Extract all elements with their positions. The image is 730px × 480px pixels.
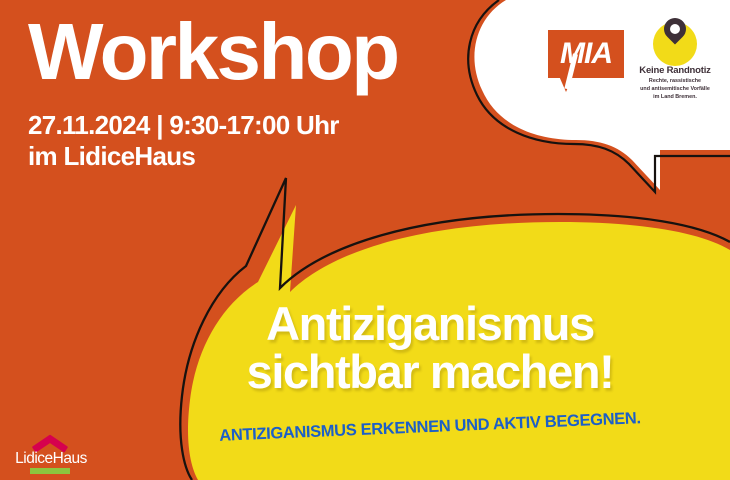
keine-randnotiz-subtitle: Rechte, rassistische und antisemitische … bbox=[630, 77, 720, 101]
map-pin-hole-icon bbox=[670, 24, 680, 34]
workshop-poster: Workshop 27.11.2024 | 9:30-17:00 Uhr im … bbox=[0, 0, 730, 480]
main-message-line-2: sichtbar machen! bbox=[150, 348, 710, 396]
page-title: Workshop bbox=[28, 14, 498, 90]
main-message-block: Antiziganismus sichtbar machen! ANTIZIGA… bbox=[150, 300, 710, 396]
keine-randnotiz-subtitle-line-3: im Land Bremen. bbox=[630, 93, 720, 101]
event-datetime: 27.11.2024 | 9:30-17:00 Uhr bbox=[28, 110, 498, 141]
keine-randnotiz-subtitle-line-1: Rechte, rassistische bbox=[630, 77, 720, 85]
event-venue: im LidiceHaus bbox=[28, 141, 498, 172]
mia-logo: MIA bbox=[548, 30, 624, 78]
keine-randnotiz-subtitle-line-2: und antisemitische Vorfälle bbox=[630, 85, 720, 93]
mia-logo-label: MIA bbox=[548, 30, 624, 78]
lidicehaus-logo-underline bbox=[30, 468, 70, 474]
keine-randnotiz-title: Keine Randnotiz bbox=[632, 65, 718, 76]
main-message-line-1: Antiziganismus bbox=[150, 300, 710, 348]
keine-randnotiz-logo: Keine Randnotiz Rechte, rassistische und… bbox=[632, 22, 718, 106]
lidicehaus-logo: LidiceHaus bbox=[8, 432, 94, 476]
lidicehaus-logo-label: LidiceHaus bbox=[8, 450, 94, 468]
headline-block: Workshop 27.11.2024 | 9:30-17:00 Uhr im … bbox=[28, 14, 498, 171]
